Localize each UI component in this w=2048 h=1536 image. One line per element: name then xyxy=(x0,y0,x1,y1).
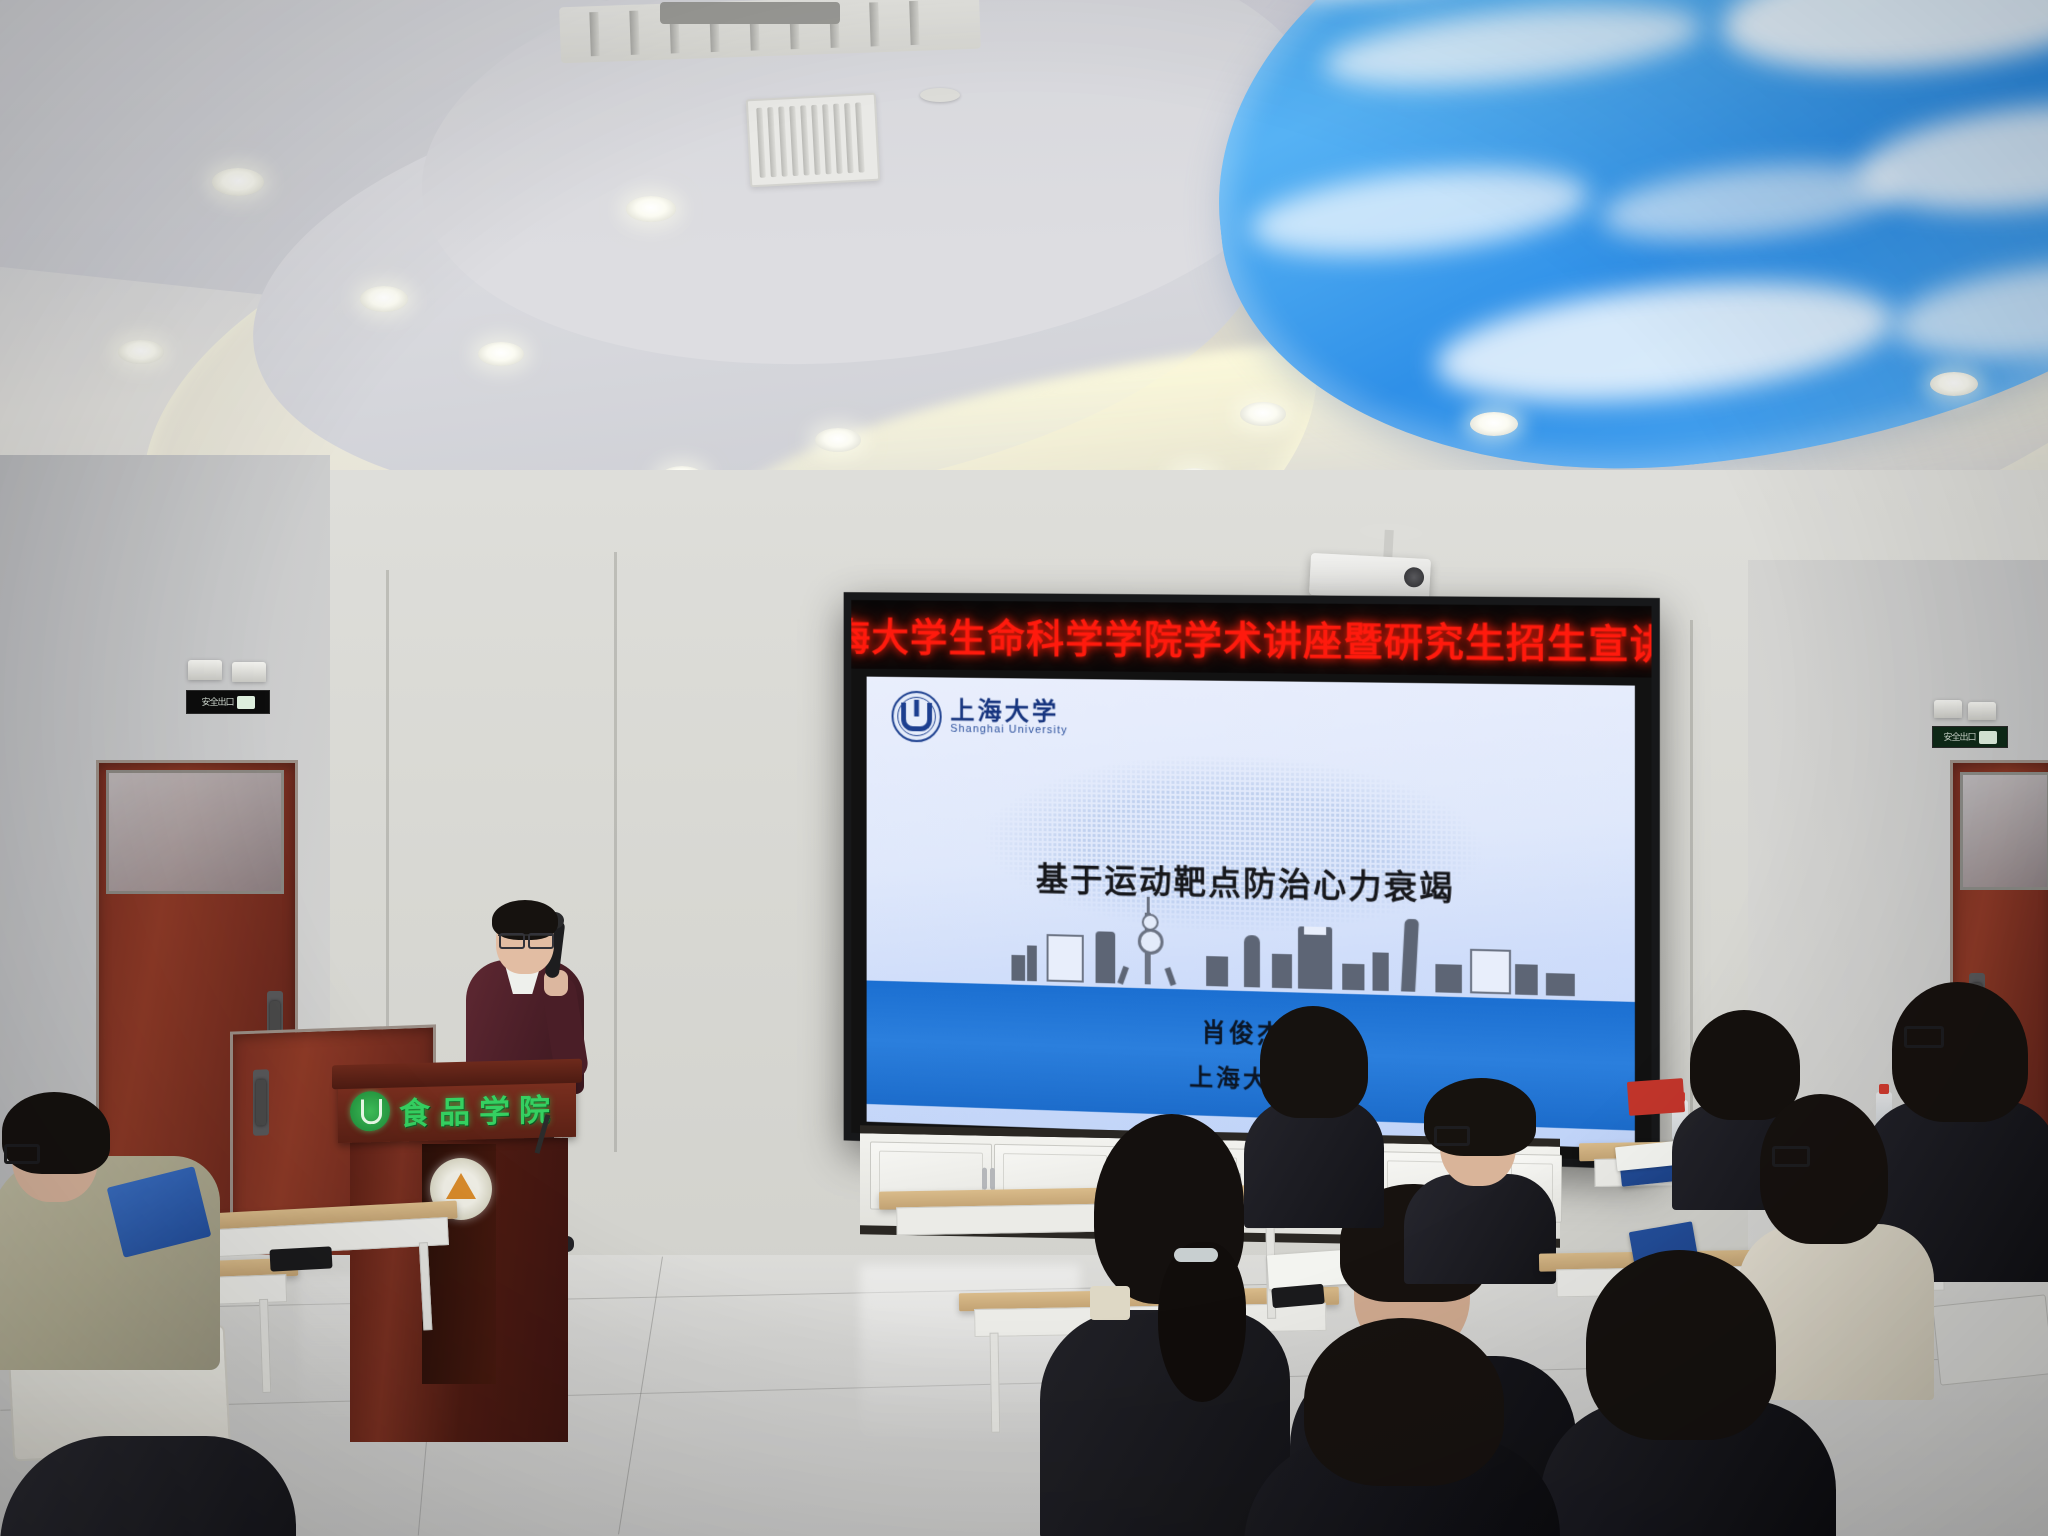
attendee-foreground-left xyxy=(0,1392,300,1536)
emergency-light xyxy=(188,660,222,680)
attendee-foreground-center xyxy=(1244,1318,1564,1536)
downlight xyxy=(478,342,524,366)
building-notch xyxy=(1304,926,1326,935)
exit-sign-text: 安全出口 xyxy=(201,698,233,707)
building-shape xyxy=(1027,945,1037,981)
university-logo: 上海大学 Shanghai University xyxy=(892,691,1068,745)
glasses-lens xyxy=(1904,1026,1944,1048)
attendee-collar xyxy=(1090,1286,1130,1320)
glasses-lens xyxy=(528,933,554,949)
attendee-mid-row xyxy=(1238,1002,1388,1222)
ceiling-projector xyxy=(1309,553,1431,601)
phone[interactable] xyxy=(269,1246,332,1271)
hair-tie xyxy=(1174,1248,1218,1262)
logo-name-en: Shanghai University xyxy=(950,724,1067,737)
glasses-lens xyxy=(1772,1146,1810,1167)
downlight xyxy=(212,168,264,196)
building-shape xyxy=(1272,954,1292,989)
building-shape xyxy=(1096,931,1116,983)
glasses-lens xyxy=(4,1144,40,1164)
exit-sign-text: 安全出口 xyxy=(1943,733,1975,742)
smoke-detector xyxy=(920,88,960,102)
attendee-hair xyxy=(1304,1318,1504,1486)
air-vent-slot xyxy=(660,2,840,24)
exit-sign-right: 安全出口 xyxy=(1932,726,2008,748)
attendee-hair xyxy=(1586,1250,1776,1440)
downlight xyxy=(1930,372,1978,396)
wall-seam xyxy=(614,552,617,1152)
building-shape xyxy=(1435,964,1461,993)
building-shape xyxy=(1373,952,1389,991)
glasses-lens xyxy=(499,933,525,949)
desk-leg xyxy=(419,1242,433,1330)
led-banner-text: 上海大学生命科学学院学术讲座暨研究生招生宣讲会 xyxy=(851,606,1651,671)
sky-ceiling-panel xyxy=(1185,0,2048,511)
tower-leg xyxy=(1117,966,1129,985)
attendee-hair xyxy=(1260,1006,1368,1118)
emergency-light xyxy=(232,662,266,682)
shanghai-university-seal-icon xyxy=(892,691,942,743)
emergency-light xyxy=(1968,702,1996,720)
attendee-hair xyxy=(1760,1094,1888,1244)
food-college-leaf-logo-icon xyxy=(350,1091,390,1132)
attendee-coat xyxy=(1404,1174,1556,1284)
downlight xyxy=(815,428,861,452)
lecture-hall-scene: 安全出口 安全出口 上海大学生命科学学院学术讲座暨研究生招生宣讲会 上海大学 S xyxy=(0,0,2048,1536)
cabinet-handle[interactable] xyxy=(982,1168,987,1190)
tower-leg xyxy=(1165,967,1177,986)
building-shape xyxy=(1515,964,1538,995)
seal-ring xyxy=(897,697,936,737)
laptop[interactable] xyxy=(1932,1294,2048,1385)
pearl-sphere xyxy=(1138,928,1164,955)
led-banner: 上海大学生命科学学院学术讲座暨研究生招生宣讲会 xyxy=(851,600,1651,678)
downlight xyxy=(1470,412,1518,436)
door-left-window xyxy=(106,770,284,894)
shanghai-world-financial-center xyxy=(1298,926,1332,989)
attendee-left-khaki xyxy=(0,1090,250,1390)
logo-name-cn: 上海大学 xyxy=(950,698,1067,726)
attendee-ponytail xyxy=(1158,1242,1246,1402)
building-shape xyxy=(1047,934,1084,983)
podium-label: 食品学院 xyxy=(399,1084,559,1133)
air-vent xyxy=(746,93,880,188)
tower-antenna xyxy=(1147,897,1150,913)
building-shape xyxy=(1470,949,1511,995)
building-shape xyxy=(1206,956,1228,987)
projector-lens xyxy=(1404,567,1425,588)
downlight xyxy=(118,340,164,364)
glasses-lens xyxy=(1434,1126,1470,1146)
desk-leg xyxy=(990,1333,1001,1433)
exit-sign-left: 安全出口 xyxy=(186,690,270,714)
building-shape xyxy=(1011,955,1025,981)
downlight xyxy=(360,286,408,312)
attendee-foreground-right xyxy=(1540,1250,1840,1536)
attendee-glasses-center xyxy=(1404,1078,1564,1268)
building-shape xyxy=(1244,935,1260,987)
running-man-icon xyxy=(237,696,255,709)
pearl-sphere-small xyxy=(1142,914,1159,931)
downlight xyxy=(626,196,676,222)
attendee-coat xyxy=(0,1436,296,1536)
projector-arm xyxy=(1383,530,1394,560)
cabinet-handle[interactable] xyxy=(990,1168,995,1190)
emergency-light xyxy=(1934,700,1962,718)
running-man-icon xyxy=(1979,731,1997,744)
door-right-window xyxy=(1960,772,2048,890)
logo-wordmark: 上海大学 Shanghai University xyxy=(950,698,1067,737)
building-shape xyxy=(1546,973,1575,996)
downlight xyxy=(1240,402,1286,426)
shanghai-tower xyxy=(1401,919,1419,992)
building-shape xyxy=(1342,964,1364,991)
